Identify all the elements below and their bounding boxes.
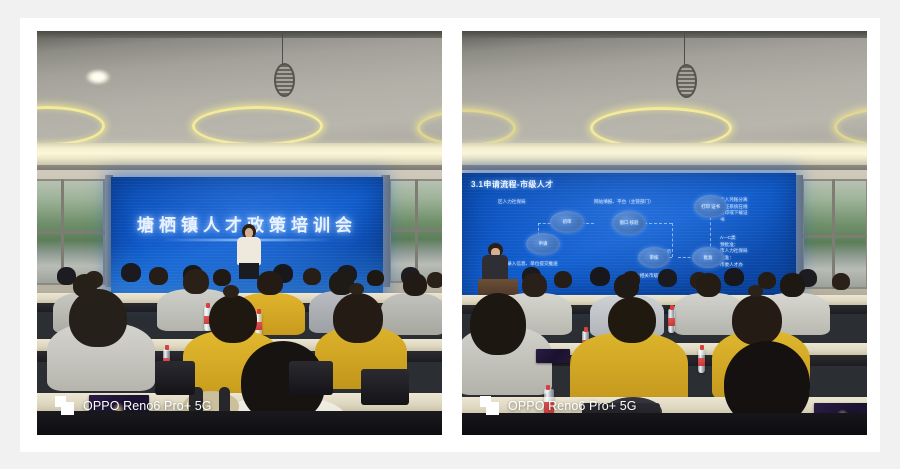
bottle-label <box>698 358 705 366</box>
audience-hair <box>470 293 526 355</box>
watermark-left: OPPO Reno6 Pro+ 5G <box>55 396 212 415</box>
speaker-lower <box>239 263 259 279</box>
audience-hair <box>732 295 782 345</box>
cable-coil-icon <box>676 64 697 98</box>
chair <box>289 361 333 395</box>
audience-hair-bun <box>748 285 763 297</box>
bottle-label <box>668 318 675 326</box>
chair <box>361 369 409 405</box>
ceiling-edge <box>37 31 442 38</box>
foreground-shadow <box>462 413 867 435</box>
window-mullion <box>832 179 835 289</box>
watermark-text: OPPO Reno6 Pro+ 5G <box>508 399 637 413</box>
photo-card: 塘栖镇人才政策培训会 <box>20 18 880 452</box>
logo-square-bottom <box>486 402 499 415</box>
water-bottle <box>668 309 675 333</box>
hanging-cable <box>684 31 685 65</box>
audience-head <box>590 267 610 286</box>
hanging-cable <box>282 33 283 65</box>
notebook <box>536 349 570 363</box>
speaker-torso <box>482 255 508 281</box>
logo-square-bottom <box>61 402 74 415</box>
audience-head <box>427 272 442 288</box>
audience-head <box>522 273 547 297</box>
audience-hair <box>209 295 257 343</box>
cove-light-strip <box>462 143 867 165</box>
audience-head <box>149 267 168 285</box>
audience-hair-bun <box>223 285 239 298</box>
ceiling-edge <box>462 31 867 38</box>
window-mullion <box>389 229 442 232</box>
photo-right[interactable]: 3.1申请流程-市级人才 区人力社保局 网站填报、平台（主管部门） 个人录入信息… <box>462 31 867 435</box>
ceiling-spotlight-icon <box>85 69 111 85</box>
room-scene-left: 塘栖镇人才政策培训会 <box>37 31 442 435</box>
audience-hair <box>69 289 127 347</box>
audience-hair-bun <box>349 283 364 295</box>
chair <box>155 361 195 395</box>
watermark-right: OPPO Reno6 Pro+ 5G <box>480 396 637 415</box>
audience-head <box>554 271 572 288</box>
ring-light-icon <box>192 106 323 146</box>
audience-hair <box>333 293 383 343</box>
watermark-text: OPPO Reno6 Pro+ 5G <box>83 399 212 413</box>
speaker-torso <box>237 237 261 265</box>
audience-hair <box>608 297 656 343</box>
audience-head <box>303 268 321 285</box>
window-mullion <box>37 231 105 234</box>
oppo-square-logo-icon <box>55 396 74 415</box>
audience-head <box>213 269 231 286</box>
audience-head <box>403 273 427 296</box>
audience-head <box>832 273 850 290</box>
audience-head <box>183 269 209 294</box>
room-scene-right: 3.1申请流程-市级人才 区人力社保局 网站填报、平台（主管部门） 个人录入信息… <box>462 31 867 435</box>
oppo-square-logo-icon <box>480 396 499 415</box>
audience-head <box>121 263 141 282</box>
audience-head <box>724 268 744 286</box>
audience-head <box>614 274 639 298</box>
cove-light-strip <box>37 143 442 165</box>
audience-head <box>696 273 721 297</box>
audience-head <box>780 273 805 297</box>
audience-torso <box>381 293 442 335</box>
audience-head <box>367 270 384 286</box>
audience-head <box>658 269 677 287</box>
cable-coil-icon <box>274 63 295 97</box>
water-bottle <box>698 349 705 373</box>
audience-head <box>257 271 283 295</box>
photo-left[interactable]: 塘栖镇人才政策培训会 <box>37 31 442 435</box>
window-mullion <box>802 235 867 238</box>
